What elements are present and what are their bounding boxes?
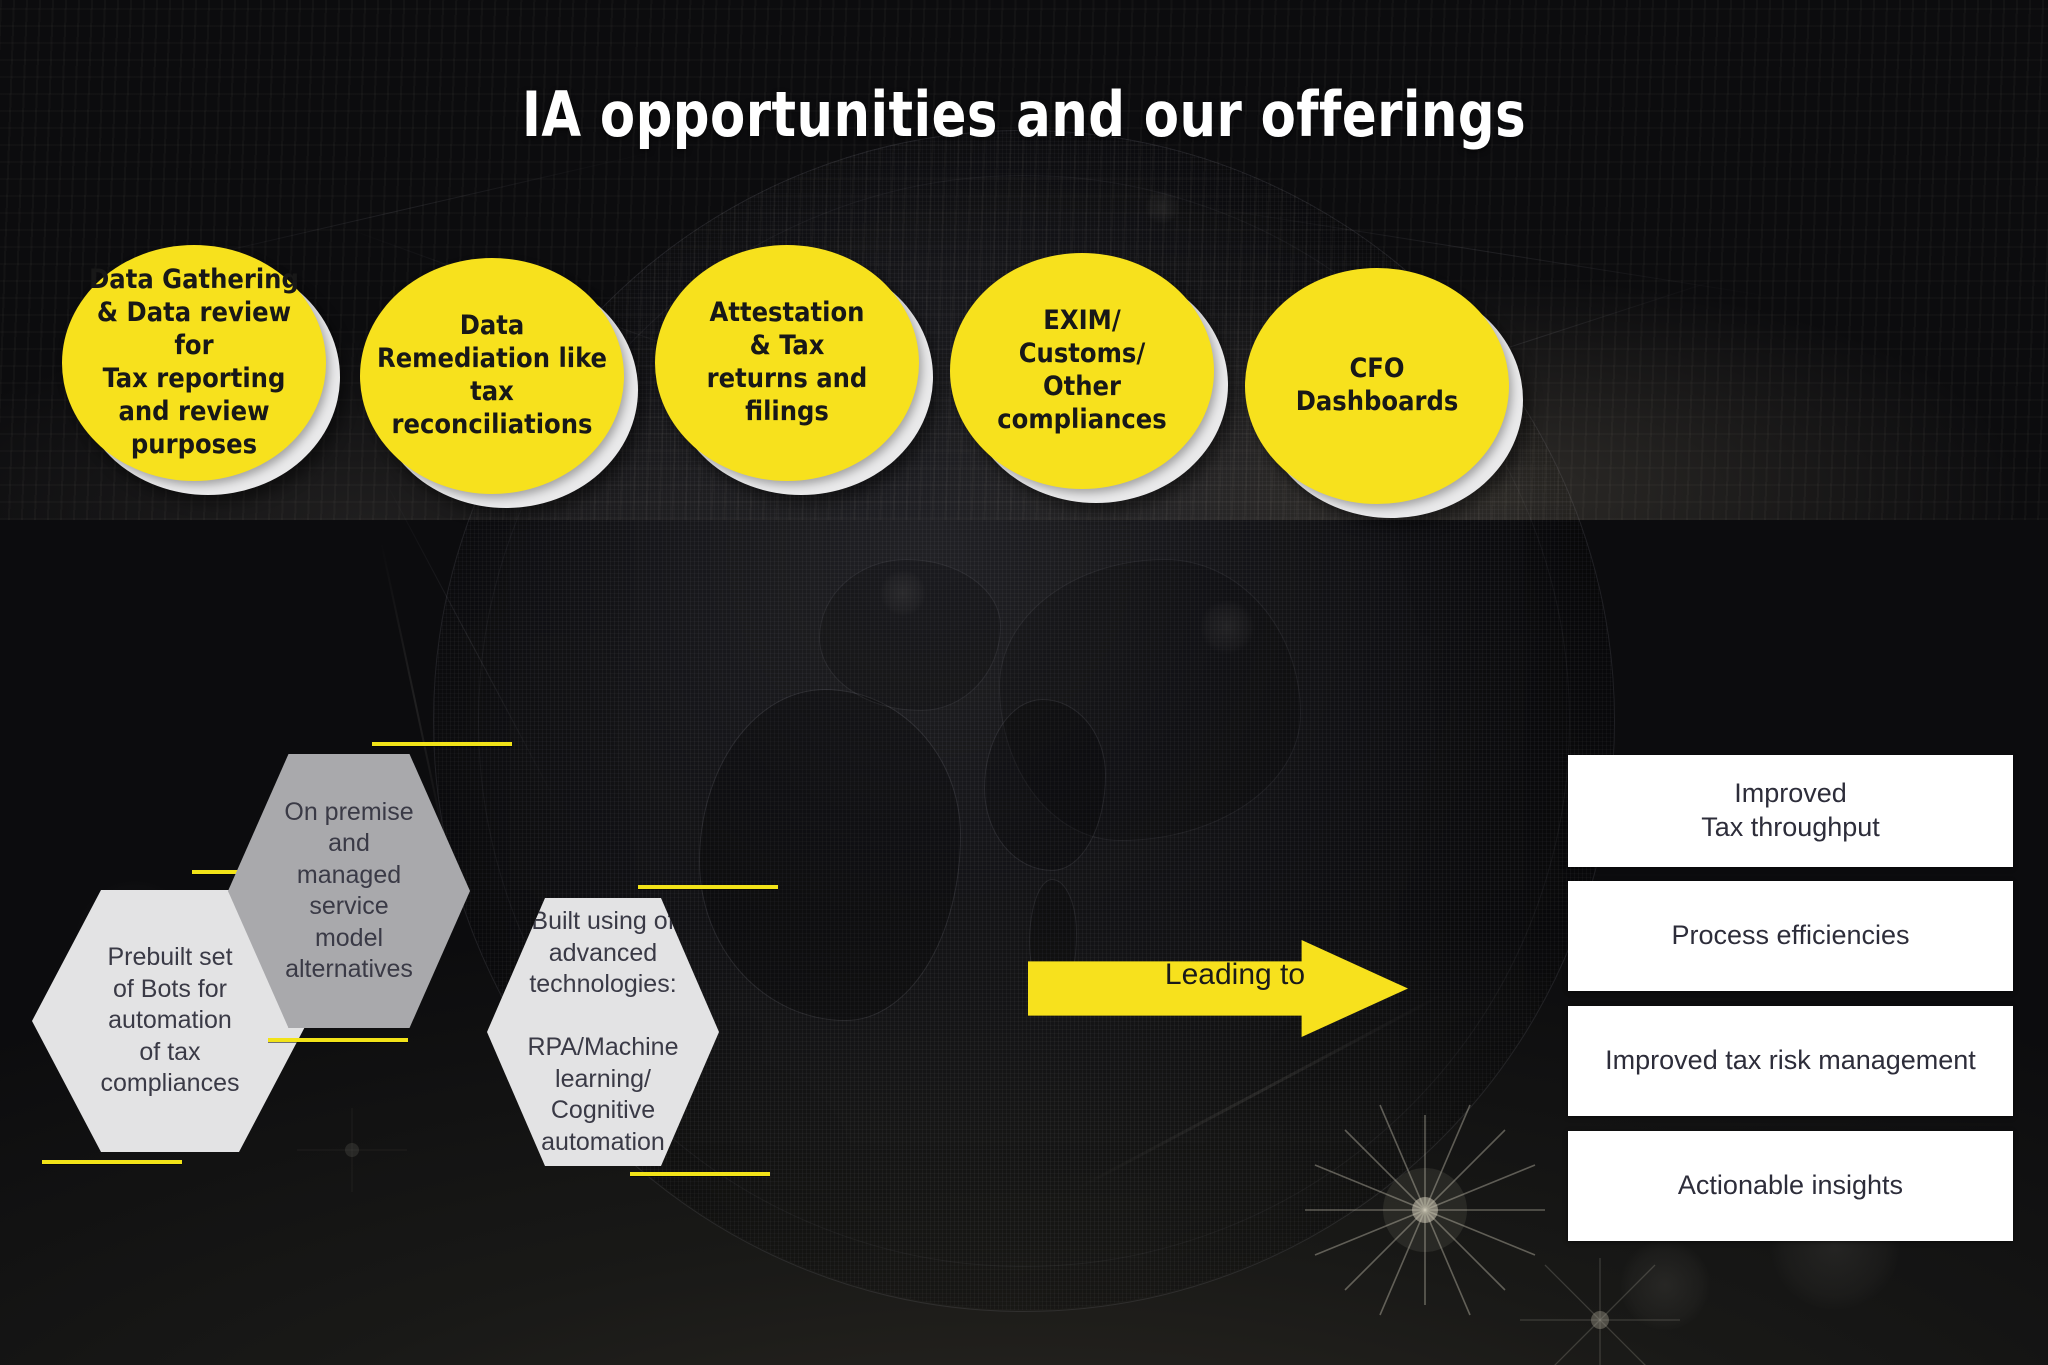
circle-face: Attestation & Tax returns and filings xyxy=(655,245,919,481)
circle-face: Data Gathering & Data review for Tax rep… xyxy=(62,245,326,481)
continent-shape-arabia xyxy=(985,700,1105,870)
outcome-label: Process efficiencies xyxy=(1671,919,1909,953)
outcome-label: Improved Tax throughput xyxy=(1701,777,1880,845)
outcome-label: Actionable insights xyxy=(1678,1169,1903,1203)
bokeh-dot xyxy=(1620,1240,1710,1330)
continent-shape-africa xyxy=(700,690,960,1020)
offering-circle-data-remediation[interactable]: Data Remediation like tax reconciliation… xyxy=(360,258,638,508)
hexagon-accent-underline xyxy=(638,885,778,889)
outcome-box-improved-tax-risk-mgmt[interactable]: Improved tax risk management xyxy=(1568,1006,2013,1116)
outcome-box-process-efficiencies[interactable]: Process efficiencies xyxy=(1568,881,2013,991)
circle-face: Data Remediation like tax reconciliation… xyxy=(360,258,624,494)
slide-canvas: IA opportunities and our offerings Data … xyxy=(0,0,2048,1365)
light-streak xyxy=(1074,992,1446,1192)
capability-hexagon-label: Built using of advanced technologies: RP… xyxy=(528,906,679,1158)
bokeh-dot xyxy=(1200,600,1254,654)
leading-to-label: Leading to xyxy=(1125,958,1345,992)
hexagon-accent-underline xyxy=(630,1172,770,1176)
capability-hexagon-label: Prebuilt set of Bots for automation of t… xyxy=(101,942,240,1100)
offering-circle-label: CFO Dashboards xyxy=(1282,353,1473,419)
circle-face: EXIM/ Customs/ Other compliances xyxy=(950,253,1214,489)
capability-hexagon-label: On premise and managed service model alt… xyxy=(284,797,413,986)
offering-circle-label: EXIM/ Customs/ Other compliances xyxy=(983,305,1180,437)
offering-circle-data-gathering[interactable]: Data Gathering & Data review for Tax rep… xyxy=(62,245,340,495)
offering-circle-cfo-dashboards[interactable]: CFO Dashboards xyxy=(1245,268,1523,518)
outcome-box-improved-tax-throughput[interactable]: Improved Tax throughput xyxy=(1568,755,2013,867)
page-title: IA opportunities and our offerings xyxy=(82,78,1966,151)
offering-circle-attestation[interactable]: Attestation & Tax returns and filings xyxy=(655,245,933,495)
hexagon-accent-underline xyxy=(372,742,512,746)
hexagon-accent-underline xyxy=(268,1038,408,1042)
bokeh-dot xyxy=(1145,190,1179,224)
offering-circle-label: Data Gathering & Data review for Tax rep… xyxy=(62,264,326,462)
hexagon-accent-underline xyxy=(42,1160,182,1164)
capability-hexagon-technologies[interactable]: Built using of advanced technologies: RP… xyxy=(487,898,719,1166)
circle-face: CFO Dashboards xyxy=(1245,268,1509,504)
outcome-label: Improved tax risk management xyxy=(1605,1044,1976,1078)
offering-circle-label: Attestation & Tax returns and filings xyxy=(693,297,882,429)
bokeh-dot xyxy=(880,570,926,616)
offering-circle-exim-customs[interactable]: EXIM/ Customs/ Other compliances xyxy=(950,253,1228,503)
outcome-box-actionable-insights[interactable]: Actionable insights xyxy=(1568,1131,2013,1241)
offering-circle-label: Data Remediation like tax reconciliation… xyxy=(360,310,624,442)
